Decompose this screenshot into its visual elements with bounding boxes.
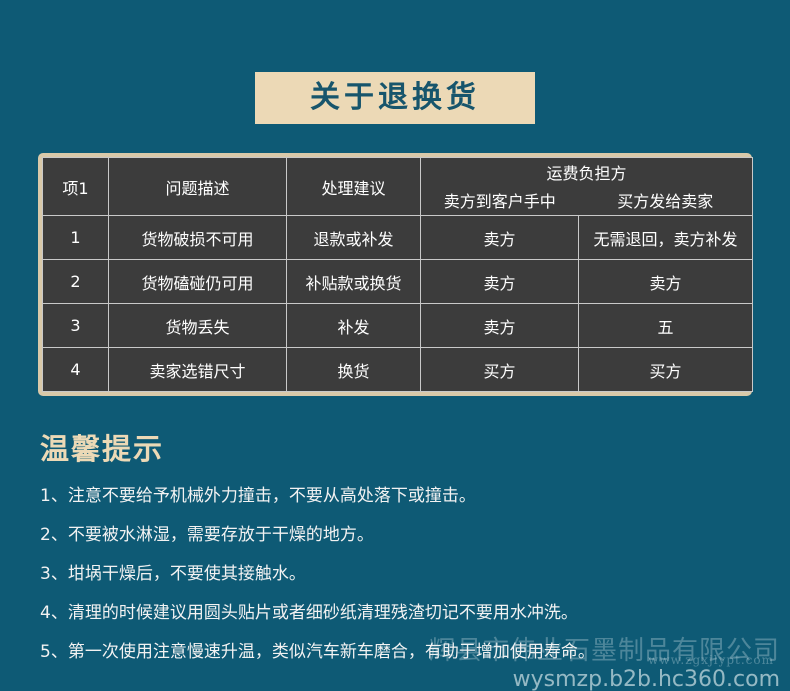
cell-shipping-buyer-to-seller: 无需退回，卖方补发 [579,216,753,260]
cell-problem: 货物丢失 [109,304,287,348]
cell-problem: 货物破损不可用 [109,216,287,260]
tip-item-4: 4、清理的时候建议用圆头贴片或者细砂纸清理残渣切记不要用水冲洗。 [40,605,790,622]
cell-advice: 补发 [287,304,421,348]
cell-row-number: 1 [43,216,109,260]
title-banner: 关于退换货 [255,72,535,124]
cell-advice: 退款或补发 [287,216,421,260]
cell-row-number: 4 [43,348,109,392]
header-cell-problem: 问题描述 [109,158,287,216]
header-cell-shipping-buyer-to-seller: 买方发给卖家 [579,186,753,216]
cell-problem: 卖家选错尺寸 [109,348,287,392]
cell-shipping-seller-to-customer: 卖方 [421,260,579,304]
header-cell-item: 项1 [43,158,109,216]
table-header: 项1 问题描述 处理建议 运费负担方 卖方到客户手中 买方发给卖家 [43,158,753,216]
table-row: 1 货物破损不可用 退款或补发 卖方 无需退回，卖方补发 [43,216,753,260]
header-cell-shipping-group: 运费负担方 [421,158,753,186]
cell-shipping-seller-to-customer: 买方 [421,348,579,392]
tip-item-5: 5、第一次使用注意慢速升温，类似汽车新车磨合，有助于增加使用寿命。 [40,644,790,661]
cell-shipping-buyer-to-seller: 卖方 [579,260,753,304]
returns-table-container: 项1 问题描述 处理建议 运费负担方 卖方到客户手中 买方发给卖家 1 货物破损… [38,153,752,396]
tip-item-1: 1、注意不要给予机械外力撞击，不要从高处落下或撞击。 [40,488,790,505]
cell-shipping-seller-to-customer: 卖方 [421,216,579,260]
cell-row-number: 3 [43,304,109,348]
title-banner-container: 关于退换货 [0,0,790,124]
cell-shipping-buyer-to-seller: 五 [579,304,753,348]
tips-heading: 温馨提示 [40,426,790,468]
tips-section: 温馨提示 1、注意不要给予机械外力撞击，不要从高处落下或撞击。 2、不要被水淋湿… [40,426,790,661]
watermark-marketplace-url: wysmzp.b2b.hc360.com [429,668,780,691]
table-row: 2 货物磕碰仍可用 补贴款或换货 卖方 卖方 [43,260,753,304]
cell-advice: 换货 [287,348,421,392]
page-title: 关于退换货 [310,83,480,113]
table-header-row-top: 项1 问题描述 处理建议 运费负担方 [43,158,753,186]
table-row: 4 卖家选错尺寸 换货 买方 买方 [43,348,753,392]
cell-shipping-buyer-to-seller: 买方 [579,348,753,392]
cell-problem: 货物磕碰仍可用 [109,260,287,304]
cell-row-number: 2 [43,260,109,304]
table-body: 1 货物破损不可用 退款或补发 卖方 无需退回，卖方补发 2 货物磕碰仍可用 补… [43,216,753,392]
header-cell-shipping-seller-to-customer: 卖方到客户手中 [421,186,579,216]
tip-item-2: 2、不要被水淋湿，需要存放于干燥的地方。 [40,527,790,544]
cell-advice: 补贴款或换货 [287,260,421,304]
returns-policy-table: 项1 问题描述 处理建议 运费负担方 卖方到客户手中 买方发给卖家 1 货物破损… [42,157,753,392]
table-row: 3 货物丢失 补发 卖方 五 [43,304,753,348]
tip-item-3: 3、坩埚干燥后，不要使其接触水。 [40,566,790,583]
cell-shipping-seller-to-customer: 卖方 [421,304,579,348]
header-cell-advice: 处理建议 [287,158,421,216]
